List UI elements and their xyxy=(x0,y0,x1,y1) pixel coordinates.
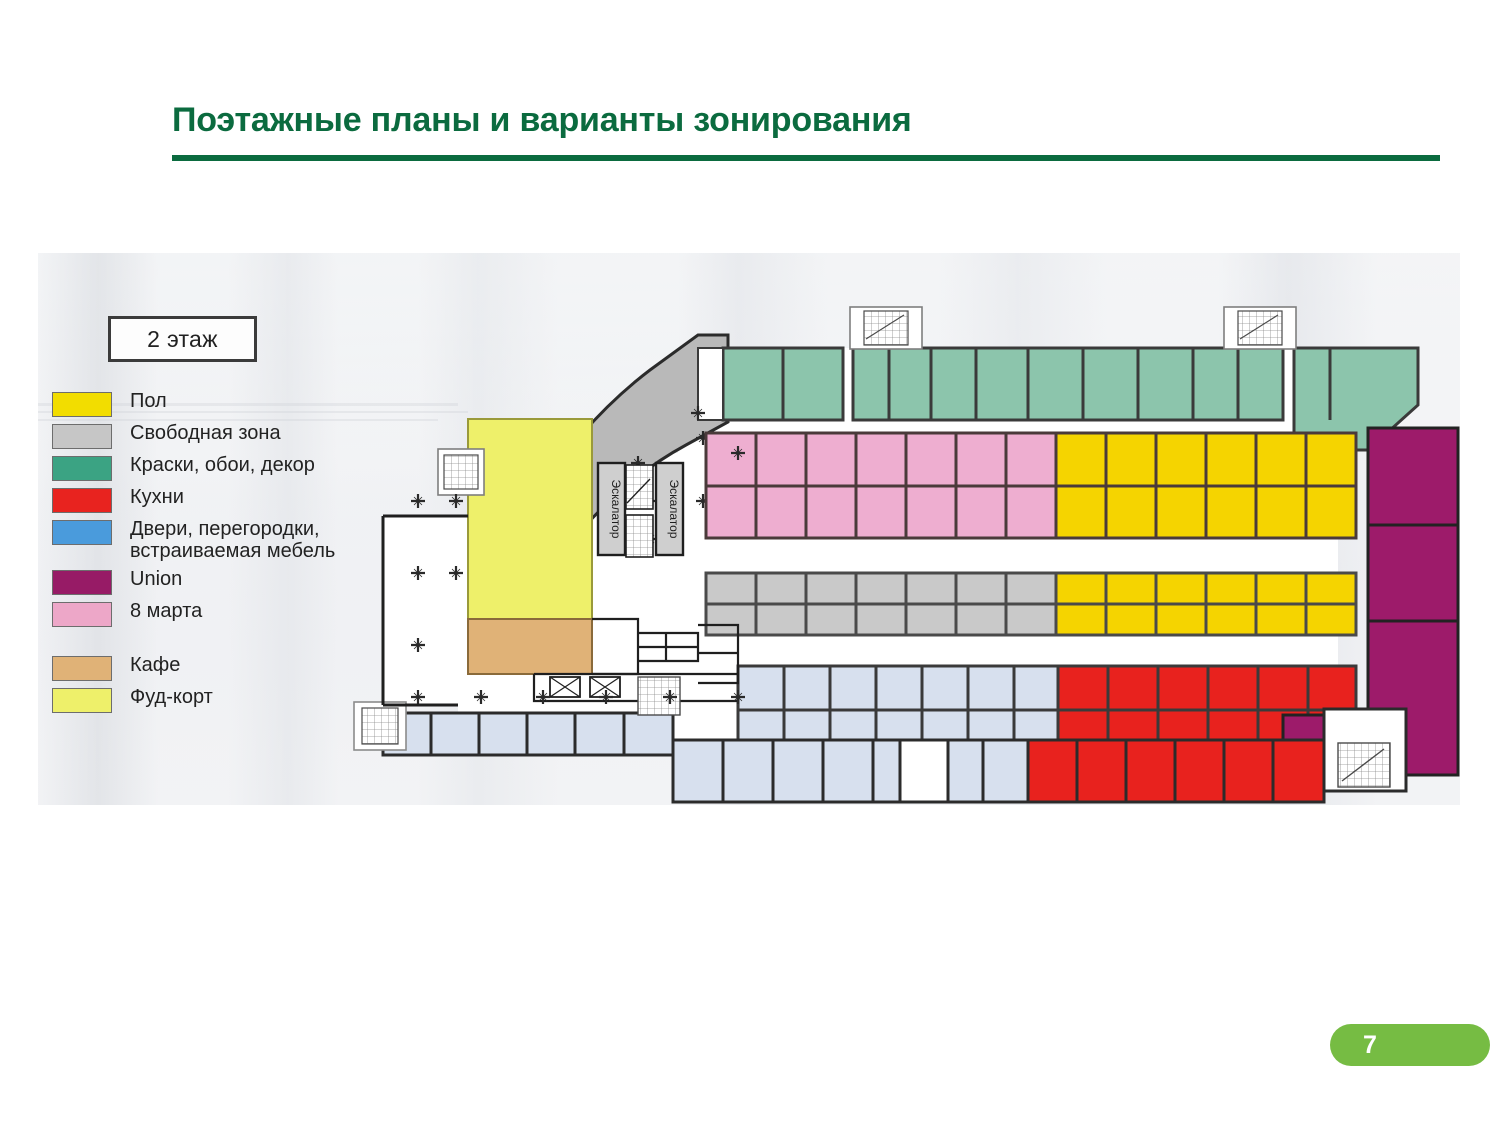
escalator-label-left: Эскалатор xyxy=(609,480,623,539)
legend-swatch xyxy=(52,602,112,627)
legend-item: Свободная зона xyxy=(52,422,362,449)
title-underline xyxy=(172,155,1440,161)
legend-item: Пол xyxy=(52,390,362,417)
zone-row-eightmarch-floor xyxy=(706,433,1356,538)
legend-swatch xyxy=(52,392,112,417)
stair-core-midleft xyxy=(438,449,484,495)
legend-swatch xyxy=(52,688,112,713)
legend-item: Union xyxy=(52,568,362,595)
legend-label: Двери, перегородки, встраиваемая мебель xyxy=(130,518,335,563)
zone-food-court xyxy=(468,419,592,619)
strip-void-cell xyxy=(900,740,948,802)
legend-item: Фуд-корт xyxy=(52,686,362,713)
stair-core-top-right xyxy=(1224,307,1296,349)
escalator-label-right: Эскалатор xyxy=(667,480,681,539)
legend-label: Фуд-корт xyxy=(130,686,213,708)
legend-label: Union xyxy=(130,568,182,590)
legend-item: Кафе xyxy=(52,654,362,681)
escalator-tread-lower xyxy=(626,515,653,557)
legend-item: Кухни xyxy=(52,486,362,513)
legend-swatch xyxy=(52,520,112,545)
zone-cafe xyxy=(468,619,592,674)
zone-strip-kitchens xyxy=(1028,740,1324,802)
legend-swatch xyxy=(52,456,112,481)
zone-strip-doors-left xyxy=(383,713,673,755)
legend-item: Краски, обои, декор xyxy=(52,454,362,481)
floor-badge: 2 этаж xyxy=(108,316,257,362)
legend-label: 8 марта xyxy=(130,600,202,622)
escalator-tread-upper xyxy=(626,465,653,509)
stair-core-right-bottom xyxy=(1324,709,1406,791)
legend-label: Кафе xyxy=(130,654,180,676)
legend-item: Двери, перегородки, встраиваемая мебель xyxy=(52,518,362,563)
zone-row-freezone-floor xyxy=(706,573,1356,635)
legend-swatch xyxy=(52,424,112,449)
legend-label: Пол xyxy=(130,390,167,412)
zone-strip-doors-mid xyxy=(673,740,1028,802)
legend-label: Свободная зона xyxy=(130,422,281,444)
legend-label: Краски, обои, декор xyxy=(130,454,315,476)
legend-label: Кухни xyxy=(130,486,184,508)
page-number-badge: 7 xyxy=(1330,1024,1490,1066)
legend-item: 8 марта xyxy=(52,600,362,627)
legend-swatch xyxy=(52,656,112,681)
legend: ПолСвободная зонаКраски, обои, декорКухн… xyxy=(52,390,362,718)
legend-swatch xyxy=(52,570,112,595)
legend-swatch xyxy=(52,488,112,513)
stair-core-top-left xyxy=(850,307,922,349)
page-title: Поэтажные планы и варианты зонирования xyxy=(172,101,912,140)
